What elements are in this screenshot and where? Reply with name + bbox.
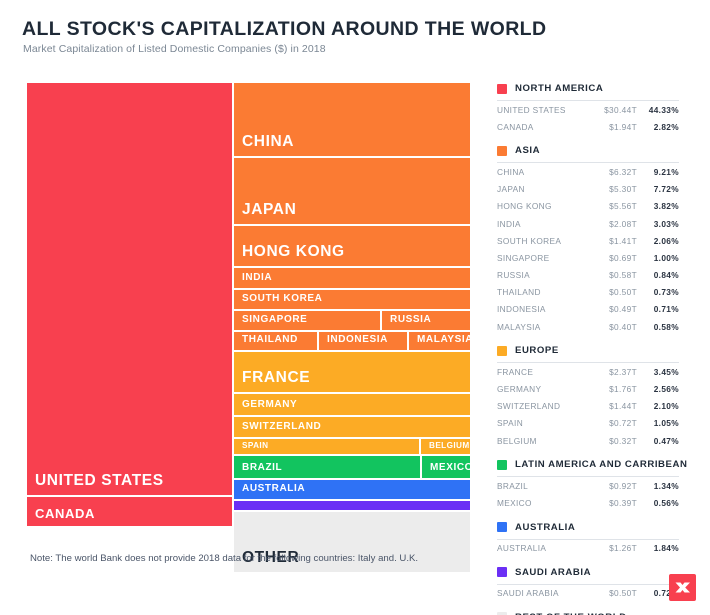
legend-row[interactable]: MALAYSIA$0.40T0.58% (497, 318, 679, 335)
legend-country-value: $1.94T (585, 122, 637, 132)
page-subtitle: Market Capitalization of Listed Domestic… (23, 43, 326, 55)
legend-country-value: $0.50T (585, 588, 637, 598)
legend-row[interactable]: CHINA$6.32T9.21% (497, 163, 679, 180)
legend-group-header[interactable]: NORTH AMERICA (497, 80, 679, 97)
treemap-tile[interactable]: RUSSIA (382, 311, 470, 330)
legend-row[interactable]: BELGIUM$0.32T0.47% (497, 432, 679, 449)
treemap-tile-label: RUSSIA (390, 315, 431, 325)
legend-country-value: $6.32T (585, 167, 637, 177)
treemap-tile-label: CANADA (35, 507, 95, 520)
treemap-tile-label: SOUTH KOREA (242, 294, 323, 304)
legend-country-name: GERMANY (497, 384, 585, 394)
legend-country-value: $0.92T (585, 481, 637, 491)
legend-country-name: SPAIN (497, 418, 585, 428)
legend-group-rows: UNITED STATES$30.44T44.33%CANADA$1.94T2.… (497, 100, 679, 135)
treemap-tile-label: MEXICO (430, 463, 470, 473)
treemap-tile-label: HONG KONG (242, 244, 345, 260)
treemap-chart: UNITED STATESCANADACHINAJAPANHONG KONGIN… (27, 83, 470, 526)
treemap-tile[interactable]: AUSTRALIA (234, 480, 470, 499)
legend-country-percent: 1.34% (637, 481, 679, 491)
legend-country-percent: 2.56% (637, 384, 679, 394)
treemap-tile-label: BELGIUM (429, 442, 470, 450)
treemap-tile[interactable]: GERMANY (234, 394, 470, 415)
legend-country-value: $0.69T (585, 253, 637, 263)
legend-row[interactable]: SINGAPORE$0.69T1.00% (497, 249, 679, 266)
legend-group-label: AUSTRALIA (515, 522, 575, 533)
legend-group-header[interactable]: EUROPE (497, 342, 679, 359)
legend-color-swatch (497, 567, 507, 577)
legend-country-percent: 0.73% (637, 287, 679, 297)
legend-row[interactable]: UNITED STATES$30.44T44.33% (497, 101, 679, 118)
legend-color-swatch (497, 346, 507, 356)
legend-country-percent: 0.84% (637, 270, 679, 280)
legend-country-value: $30.44T (585, 105, 637, 115)
legend-row[interactable]: RUSSIA$0.58T0.84% (497, 267, 679, 284)
legend-country-name: INDONESIA (497, 304, 585, 314)
legend-country-percent: 2.10% (637, 401, 679, 411)
legend-country-value: $0.58T (585, 270, 637, 280)
treemap-tile[interactable]: INDIA (234, 268, 470, 288)
legend-row[interactable]: CANADA$1.94T2.82% (497, 118, 679, 135)
treemap-tile-label: SWITZERLAND (242, 422, 321, 432)
legend-country-name: HONG KONG (497, 201, 585, 211)
legend-group-label: ASIA (515, 145, 540, 156)
treemap-tile-label: SPAIN (242, 442, 268, 450)
legend-country-name: BRAZIL (497, 481, 585, 491)
treemap-tile-label: INDIA (242, 273, 272, 283)
legend-row[interactable]: BRAZIL$0.92T1.34% (497, 477, 679, 494)
treemap-tile[interactable]: BRAZIL (234, 456, 420, 478)
treemap-tile[interactable] (234, 501, 470, 510)
treemap-tile[interactable]: SPAIN (234, 439, 419, 454)
legend-row[interactable]: INDONESIA$0.49T0.71% (497, 301, 679, 318)
legend-row[interactable]: AUSTRALIA$1.26T1.84% (497, 540, 679, 557)
treemap-tile[interactable]: FRANCE (234, 352, 470, 392)
legend-country-name: CHINA (497, 167, 585, 177)
legend-country-value: $1.44T (585, 401, 637, 411)
logo-x-icon (669, 574, 696, 601)
legend-country-value: $0.49T (585, 304, 637, 314)
treemap-tile-label: GERMANY (242, 400, 297, 410)
treemap-tile[interactable]: UNITED STATES (27, 83, 232, 495)
legend-country-name: BELGIUM (497, 436, 585, 446)
legend-country-name: SAUDI ARABIA (497, 588, 585, 598)
legend-country-name: SWITZERLAND (497, 401, 585, 411)
legend-country-value: $0.72T (585, 418, 637, 428)
legend-group-header[interactable]: SAUDI ARABIA (497, 564, 679, 581)
legend-group-label: SAUDI ARABIA (515, 567, 591, 578)
legend-country-name: FRANCE (497, 367, 585, 377)
treemap-tile[interactable]: THAILAND (234, 332, 317, 350)
legend-color-swatch (497, 146, 507, 156)
treemap-tile-label: MALAYSIA (417, 335, 470, 345)
legend-country-percent: 1.84% (637, 543, 679, 553)
treemap-tile[interactable]: JAPAN (234, 158, 470, 224)
legend-row[interactable]: THAILAND$0.50T0.73% (497, 284, 679, 301)
legend-country-percent: 7.72% (637, 184, 679, 194)
legend-row[interactable]: GERMANY$1.76T2.56% (497, 380, 679, 397)
legend-row[interactable]: FRANCE$2.37T3.45% (497, 363, 679, 380)
legend-country-percent: 0.56% (637, 498, 679, 508)
legend-country-name: RUSSIA (497, 270, 585, 280)
infographic-page: ALL STOCK'S CAPITALIZATION AROUND THE WO… (0, 0, 710, 615)
legend-color-swatch (497, 84, 507, 94)
treemap-tile[interactable]: MALAYSIA (409, 332, 470, 350)
treemap-tile[interactable]: MEXICO (422, 456, 470, 478)
legend-country-value: $2.08T (585, 219, 637, 229)
treemap-tile-label: THAILAND (242, 335, 298, 345)
treemap-tile-label: INDONESIA (327, 335, 388, 345)
legend-group-header[interactable]: AUSTRALIA (497, 519, 679, 536)
legend-country-value: $1.76T (585, 384, 637, 394)
legend-country-value: $0.40T (585, 322, 637, 332)
legend-country-value: $5.56T (585, 201, 637, 211)
treemap-tile-label: AUSTRALIA (242, 484, 305, 494)
treemap-tile-label: CHINA (242, 134, 294, 150)
brand-logo (669, 574, 696, 601)
legend-group-header[interactable]: REST OF THE WORLD (497, 609, 679, 615)
legend-row[interactable]: HONG KONG$5.56T3.82% (497, 198, 679, 215)
legend-row[interactable]: SOUTH KOREA$1.41T2.06% (497, 232, 679, 249)
legend-color-swatch (497, 460, 507, 470)
legend-country-value: $0.39T (585, 498, 637, 508)
legend-country-name: INDIA (497, 219, 585, 229)
legend-group-header[interactable]: LATIN AMERICA AND CARRIBEAN (497, 456, 679, 473)
legend-country-value: $0.50T (585, 287, 637, 297)
legend-group-rows: FRANCE$2.37T3.45%GERMANY$1.76T2.56%SWITZ… (497, 362, 679, 449)
legend-group-rows: AUSTRALIA$1.26T1.84% (497, 539, 679, 557)
treemap-tile[interactable]: CHINA (234, 83, 470, 156)
legend-country-value: $1.26T (585, 543, 637, 553)
legend-row[interactable]: MEXICO$0.39T0.56% (497, 494, 679, 511)
legend-country-name: UNITED STATES (497, 105, 585, 115)
legend-country-name: AUSTRALIA (497, 543, 585, 553)
treemap-tile-label: BRAZIL (242, 463, 282, 473)
legend-country-percent: 3.45% (637, 367, 679, 377)
legend-country-percent: 3.82% (637, 201, 679, 211)
page-title: ALL STOCK'S CAPITALIZATION AROUND THE WO… (22, 18, 546, 41)
treemap-tile[interactable]: BELGIUM (421, 439, 470, 454)
legend-country-value: $1.41T (585, 236, 637, 246)
legend-country-name: CANADA (497, 122, 585, 132)
treemap-tile[interactable]: CANADA (27, 497, 232, 526)
treemap-tile[interactable]: INDONESIA (319, 332, 407, 350)
legend-row[interactable]: JAPAN$5.30T7.72% (497, 181, 679, 198)
legend-panel: NORTH AMERICAUNITED STATES$30.44T44.33%C… (497, 80, 679, 615)
legend-country-value: $5.30T (585, 184, 637, 194)
legend-country-percent: 9.21% (637, 167, 679, 177)
legend-country-percent: 0.58% (637, 322, 679, 332)
legend-country-percent: 1.00% (637, 253, 679, 263)
legend-country-percent: 2.82% (637, 122, 679, 132)
legend-group-label: LATIN AMERICA AND CARRIBEAN (515, 459, 687, 470)
legend-country-name: THAILAND (497, 287, 585, 297)
treemap-tile-label: FRANCE (242, 370, 310, 386)
legend-country-name: MEXICO (497, 498, 585, 508)
legend-row[interactable]: SPAIN$0.72T1.05% (497, 415, 679, 432)
legend-row[interactable]: SAUDI ARABIA$0.50T0.72% (497, 585, 679, 602)
legend-country-percent: 44.33% (637, 105, 679, 115)
legend-country-value: $0.32T (585, 436, 637, 446)
legend-country-name: SINGAPORE (497, 253, 585, 263)
legend-group-rows: CHINA$6.32T9.21%JAPAN$5.30T7.72%HONG KON… (497, 162, 679, 335)
legend-group-rows: SAUDI ARABIA$0.50T0.72% (497, 584, 679, 602)
footnote: Note: The world Bank does not provide 20… (30, 553, 418, 564)
treemap-tile[interactable]: SWITZERLAND (234, 417, 470, 437)
legend-row[interactable]: SWITZERLAND$1.44T2.10% (497, 398, 679, 415)
legend-group-rows: BRAZIL$0.92T1.34%MEXICO$0.39T0.56% (497, 476, 679, 511)
legend-group-header[interactable]: ASIA (497, 142, 679, 159)
legend-row[interactable]: INDIA$2.08T3.03% (497, 215, 679, 232)
legend-country-value: $2.37T (585, 367, 637, 377)
legend-country-percent: 1.05% (637, 418, 679, 428)
legend-country-percent: 0.71% (637, 304, 679, 314)
treemap-tile[interactable]: HONG KONG (234, 226, 470, 266)
legend-country-percent: 0.47% (637, 436, 679, 446)
legend-country-name: SOUTH KOREA (497, 236, 585, 246)
treemap-tile[interactable]: SOUTH KOREA (234, 290, 470, 309)
legend-country-percent: 2.06% (637, 236, 679, 246)
legend-group-label: EUROPE (515, 345, 559, 356)
legend-group-label: NORTH AMERICA (515, 83, 603, 94)
treemap-tile[interactable]: SINGAPORE (234, 311, 380, 330)
treemap-tile-label: SINGAPORE (242, 315, 307, 325)
treemap-tile-label: UNITED STATES (35, 473, 164, 489)
legend-country-name: JAPAN (497, 184, 585, 194)
legend-color-swatch (497, 522, 507, 532)
legend-country-percent: 3.03% (637, 219, 679, 229)
treemap-tile-label: JAPAN (242, 202, 296, 218)
legend-country-name: MALAYSIA (497, 322, 585, 332)
